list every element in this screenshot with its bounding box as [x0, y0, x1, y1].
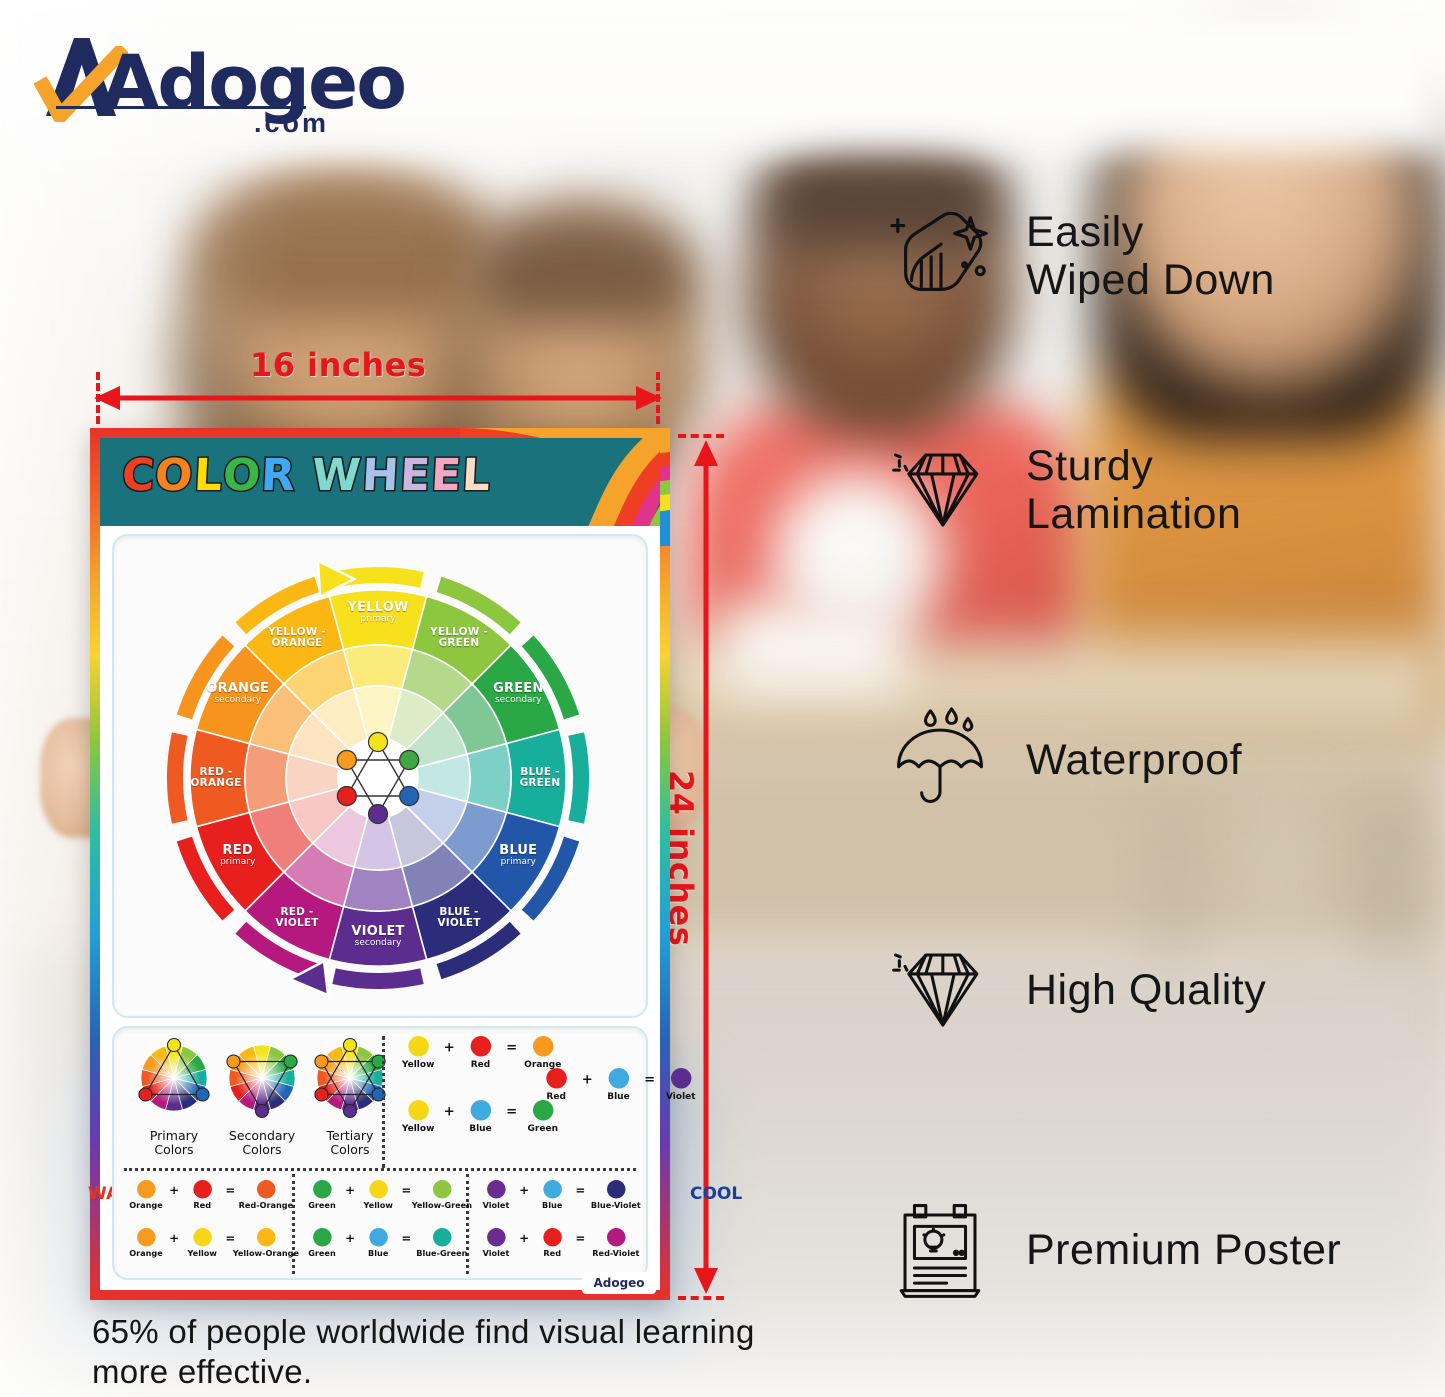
color-swatch-dot: [607, 1180, 626, 1199]
adogeo-logo: Adogeo .com: [26, 20, 386, 140]
mini-wheel-label: TertiaryColors: [295, 1129, 405, 1158]
mini-wheel-graphic: [308, 1038, 392, 1122]
color-legend-card: PrimaryColorsSecondaryColorsTertiaryColo…: [112, 1026, 648, 1280]
feature-label: Easily Wiped Down: [1026, 208, 1275, 304]
mix-term: Red: [182, 1180, 222, 1210]
color-swatch-dot: [408, 1036, 429, 1057]
wheel-segment-red: REDprimary: [183, 844, 293, 867]
wipe-cloth-icon: [880, 196, 1000, 316]
color-swatch-dot: [369, 1228, 388, 1247]
mix-term: Green: [521, 1100, 565, 1134]
poster-watermark-logo: Adogeo: [582, 1272, 656, 1294]
mix-term: Yellow: [358, 1180, 398, 1210]
operator: =: [398, 1231, 414, 1245]
color-name-label: Violet: [666, 1091, 696, 1102]
wheel-segment-orange: ORANGEsecondary: [183, 682, 293, 705]
mix-term: Blue: [532, 1180, 572, 1210]
color-swatch-dot: [433, 1180, 452, 1199]
color-swatch-dot: [257, 1228, 276, 1247]
color-swatch-dot: [487, 1180, 506, 1199]
operator: =: [398, 1183, 414, 1197]
mix-term: Blue-Green: [414, 1228, 469, 1258]
feature-label: High Quality: [1026, 966, 1266, 1014]
mini-wheel-hexagram: TertiaryColors: [308, 1038, 392, 1156]
operator: +: [342, 1231, 358, 1245]
color-swatch-dot: [137, 1228, 156, 1247]
diamond-icon: [880, 430, 1000, 550]
color-name-label: Red: [543, 1249, 561, 1259]
color-name-label: Green: [308, 1249, 336, 1259]
width-dimension-label: 16 inches: [250, 346, 426, 384]
legend-divider-horizontal: [124, 1168, 636, 1171]
color-name-label: Green: [528, 1123, 559, 1134]
mini-wheel-graphic: [220, 1038, 304, 1122]
color-swatch-dot: [607, 1228, 626, 1247]
operator: =: [222, 1231, 238, 1245]
mix-equation: Orange+Yellow=Yellow-Orange: [126, 1228, 293, 1258]
color-name-label: Blue-Green: [416, 1249, 467, 1259]
mix-term: Green: [302, 1180, 342, 1210]
poster-title: COLOR WHEEL: [122, 450, 491, 501]
color-swatch-dot: [408, 1100, 429, 1121]
mix-term: Yellow: [396, 1100, 440, 1134]
operator: =: [641, 1071, 659, 1087]
operator: +: [440, 1039, 458, 1055]
feature-label: Waterproof: [1026, 736, 1242, 784]
color-swatch-dot: [671, 1068, 692, 1089]
color-name-label: Red-Violet: [592, 1249, 639, 1259]
mix-equation: Red+Blue=Violet: [534, 1068, 703, 1102]
color-wheel-card: YELLOWprimaryYELLOW -GREENGREENsecondary…: [112, 534, 648, 1018]
color-swatch-dot: [313, 1180, 332, 1199]
feature-easily-wiped-down: Easily Wiped Down: [880, 196, 1440, 316]
color-name-label: Blue: [607, 1091, 630, 1102]
wheel-segment-yellow: YELLOWprimary: [323, 601, 433, 624]
color-swatch-dot: [470, 1100, 491, 1121]
poster-header-banner: COLOR WHEEL: [100, 438, 660, 526]
color-name-label: Blue-Violet: [591, 1201, 641, 1211]
feature-premium-poster: Premium Poster: [880, 1190, 1440, 1310]
legend-divider-vertical-top: [382, 1036, 385, 1168]
feature-waterproof: Waterproof: [880, 700, 1440, 820]
color-name-label: Green: [308, 1201, 336, 1211]
mix-term: Red: [532, 1228, 572, 1258]
color-name-label: Red: [471, 1059, 491, 1070]
color-swatch-dot: [313, 1228, 332, 1247]
mix-term: Red-Violet: [588, 1228, 643, 1258]
operator: =: [222, 1183, 238, 1197]
feature-label: Premium Poster: [1026, 1226, 1341, 1274]
mini-wheel-graphic: [132, 1038, 216, 1122]
mix-term: Yellow-Orange: [238, 1228, 293, 1258]
operator: +: [440, 1103, 458, 1119]
color-name-label: Blue: [368, 1249, 388, 1259]
color-swatch-dot: [543, 1180, 562, 1199]
header-rainbow-swoosh: [510, 438, 660, 526]
feature-label: Sturdy Lamination: [1026, 442, 1241, 538]
mix-term: Blue: [596, 1068, 640, 1102]
feature-high-quality: High Quality: [880, 930, 1440, 1050]
dim-tick-bottom: [678, 1296, 724, 1300]
feature-sturdy-lamination: Sturdy Lamination: [880, 430, 1440, 550]
color-swatch-dot: [487, 1228, 506, 1247]
mix-term: Green: [302, 1228, 342, 1258]
mix-equation: Green+Yellow=Yellow-Green: [302, 1180, 469, 1210]
mix-equation: Yellow+Red=Orange: [396, 1036, 565, 1070]
operator: +: [516, 1231, 532, 1245]
color-name-label: Orange: [129, 1201, 163, 1211]
color-name-label: Yellow-Orange: [233, 1249, 299, 1259]
dimension-arrow-horizontal: [92, 380, 664, 416]
mix-equation: Violet+Blue=Blue-Violet: [476, 1180, 643, 1210]
color-swatch-dot: [433, 1228, 452, 1247]
operator: +: [516, 1183, 532, 1197]
color-swatch-dot: [533, 1036, 554, 1057]
mix-term: Orange: [521, 1036, 565, 1070]
color-name-label: Red: [546, 1091, 566, 1102]
operator: =: [503, 1039, 521, 1055]
color-wheel-poster[interactable]: COLOR WHEEL YELLOWprimaryYELLOW -GREENGR…: [90, 428, 670, 1300]
operator: =: [572, 1231, 588, 1245]
mix-term: Violet: [476, 1228, 516, 1258]
color-name-label: Yellow: [364, 1201, 393, 1211]
wheel-segment-red-violet: RED -VIOLET: [242, 907, 352, 929]
wheel-segment-yellow-green: YELLOW -GREEN: [404, 627, 514, 649]
mix-equation: Orange+Red=Red-Orange: [126, 1180, 293, 1210]
color-name-label: Red: [193, 1201, 211, 1211]
mix-term: Red-Orange: [238, 1180, 293, 1210]
mix-term: Yellow: [396, 1036, 440, 1070]
mix-term: Yellow: [182, 1228, 222, 1258]
statistic-caption: 65% of people worldwide find visual lear…: [92, 1312, 792, 1393]
color-name-label: Blue: [542, 1201, 562, 1211]
operator: =: [572, 1183, 588, 1197]
color-name-label: Blue: [469, 1123, 492, 1134]
color-swatch-dot: [470, 1036, 491, 1057]
mix-term: Yellow-Green: [414, 1180, 469, 1210]
color-name-label: Violet: [483, 1201, 510, 1211]
color-swatch-dot: [193, 1228, 212, 1247]
color-swatch-dot: [546, 1068, 567, 1089]
operator: +: [578, 1071, 596, 1087]
mix-term: Violet: [476, 1180, 516, 1210]
color-name-label: Yellow: [402, 1123, 435, 1134]
wheel-segment-blue: BLUEprimary: [463, 844, 573, 867]
color-swatch-dot: [543, 1228, 562, 1247]
color-wheel-diagram[interactable]: YELLOWprimaryYELLOW -GREENGREENsecondary…: [148, 552, 608, 1004]
mini-wheel-triangle-down: SecondaryColors: [220, 1038, 304, 1156]
color-name-label: Yellow-Green: [412, 1201, 472, 1211]
umbrella-rain-icon: [880, 700, 1000, 820]
color-swatch-dot: [369, 1180, 388, 1199]
color-name-label: Yellow: [188, 1249, 217, 1259]
mix-equation: Green+Blue=Blue-Green: [302, 1228, 469, 1258]
mix-equation: Violet+Red=Red-Violet: [476, 1228, 643, 1258]
mix-term: Orange: [126, 1180, 166, 1210]
cool-label: COOL: [690, 1184, 742, 1204]
color-name-label: Violet: [483, 1249, 510, 1259]
mix-term: Blue: [358, 1228, 398, 1258]
color-swatch-dot: [533, 1100, 554, 1121]
mix-term: Red: [458, 1036, 502, 1070]
diamond-icon: [880, 930, 1000, 1050]
operator: +: [166, 1183, 182, 1197]
operator: +: [342, 1183, 358, 1197]
mini-wheel-triangle: PrimaryColors: [132, 1038, 216, 1156]
color-swatch-dot: [193, 1180, 212, 1199]
color-swatch-dot: [257, 1180, 276, 1199]
color-name-label: Yellow: [402, 1059, 435, 1070]
wheel-segment-red-orange: RED -ORANGE: [161, 767, 271, 789]
color-swatch-dot: [608, 1068, 629, 1089]
color-swatch-dot: [137, 1180, 156, 1199]
mix-term: Blue-Violet: [588, 1180, 643, 1210]
mix-term: Red: [534, 1068, 578, 1102]
mix-term: Blue: [458, 1100, 502, 1134]
color-name-label: Red-Orange: [239, 1201, 294, 1211]
operator: =: [503, 1103, 521, 1119]
color-name-label: Orange: [129, 1249, 163, 1259]
wheel-segment-blue-green: BLUE -GREEN: [485, 767, 595, 789]
mix-equation: Yellow+Blue=Green: [396, 1100, 565, 1134]
mix-term: Violet: [659, 1068, 703, 1102]
operator: +: [166, 1231, 182, 1245]
logo-tld: .com: [254, 108, 329, 139]
wheel-segment-yellow-orange: YELLOW -ORANGE: [242, 627, 352, 649]
mix-term: Orange: [126, 1228, 166, 1258]
poster-board-icon: [880, 1190, 1000, 1310]
wheel-segment-green: GREENsecondary: [463, 682, 573, 705]
